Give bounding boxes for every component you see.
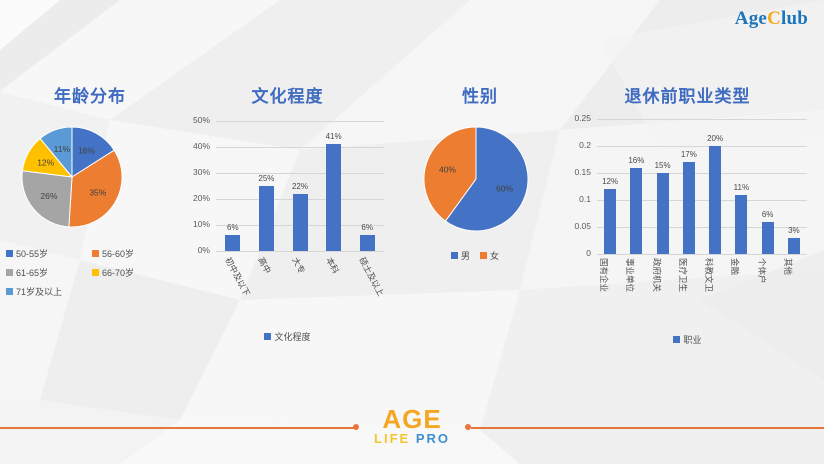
footer-dot-left bbox=[353, 424, 359, 430]
chart-title-occupation: 退休前职业类型 bbox=[555, 82, 820, 107]
y-axis-tick-label: 0.15 bbox=[555, 167, 591, 177]
bar bbox=[225, 235, 240, 251]
bar-data-label: 41% bbox=[320, 132, 348, 141]
legend-item: 职业 bbox=[673, 333, 701, 346]
bar bbox=[360, 235, 375, 251]
bar bbox=[709, 146, 721, 254]
y-axis-tick-label: 0.1 bbox=[555, 194, 591, 204]
legend-swatch-icon bbox=[480, 252, 487, 259]
footer-logo-sub: LIFE PRO bbox=[374, 432, 450, 446]
legend-label: 71岁及以上 bbox=[16, 285, 62, 298]
bar bbox=[683, 162, 695, 254]
x-axis-tick-label: 大专 bbox=[289, 255, 308, 276]
gridline bbox=[597, 254, 807, 255]
bar-data-label: 3% bbox=[780, 226, 808, 235]
legend-item: 71岁及以上 bbox=[6, 285, 92, 298]
legend-age: 50-55岁56-60岁61-65岁66-70岁71岁及以上 bbox=[0, 247, 180, 298]
x-axis-tick-label: 国有企业 bbox=[598, 258, 610, 292]
pie-data-label: 60% bbox=[496, 183, 513, 193]
footer-line-right bbox=[471, 427, 824, 429]
y-axis-tick-label: 30% bbox=[180, 167, 210, 177]
gridline bbox=[597, 146, 807, 147]
y-axis-tick-label: 10% bbox=[180, 219, 210, 229]
legend-item: 文化程度 bbox=[264, 330, 310, 343]
x-axis-tick-label: 科教文卫 bbox=[703, 258, 715, 292]
y-axis-tick-label: 0.05 bbox=[555, 221, 591, 231]
y-axis-tick-label: 0.25 bbox=[555, 113, 591, 123]
x-axis-tick-label: 政府机关 bbox=[651, 258, 663, 292]
bar bbox=[630, 168, 642, 254]
bar bbox=[657, 173, 669, 254]
chart-preretirement-occupation: 退休前职业类型 00.050.10.150.20.2512%国有企业16%事业单… bbox=[555, 82, 820, 346]
x-axis-tick-label: 事业单位 bbox=[624, 258, 636, 292]
legend-label: 文化程度 bbox=[274, 330, 310, 343]
legend-item: 61-65岁 bbox=[6, 266, 92, 279]
bar bbox=[293, 194, 308, 251]
bar bbox=[326, 144, 341, 251]
pie-chart-gender: 60%40% bbox=[400, 117, 560, 247]
bar-data-label: 15% bbox=[649, 161, 677, 170]
pie-data-label: 35% bbox=[89, 187, 106, 197]
bar bbox=[604, 189, 616, 254]
footer-logo-life: LIFE bbox=[374, 431, 410, 446]
legend-swatch-icon bbox=[6, 250, 13, 257]
gridline bbox=[216, 147, 384, 148]
legend-swatch-icon bbox=[451, 252, 458, 259]
bar-data-label: 12% bbox=[596, 177, 624, 186]
legend-education: 文化程度 bbox=[180, 330, 395, 343]
logo-text-age: Age bbox=[735, 8, 767, 29]
legend-label: 61-65岁 bbox=[16, 266, 48, 279]
pie-chart-age: 16%35%26%12%11% bbox=[0, 115, 180, 245]
y-axis-tick-label: 20% bbox=[180, 193, 210, 203]
bar bbox=[259, 186, 274, 251]
legend-label: 50-55岁 bbox=[16, 247, 48, 260]
bar bbox=[788, 238, 800, 254]
pie-data-label: 11% bbox=[54, 144, 71, 154]
bar-data-label: 16% bbox=[622, 156, 650, 165]
logo-text-c: C bbox=[767, 8, 781, 29]
chart-gender: 性别 60%40% 男女 bbox=[400, 82, 560, 262]
y-axis-tick-label: 0% bbox=[180, 245, 210, 255]
gridline bbox=[216, 173, 384, 174]
bar bbox=[735, 195, 747, 254]
bar-data-label: 22% bbox=[286, 182, 314, 191]
footer-logo-age: AGE bbox=[374, 406, 450, 432]
chart-education-level: 文化程度 0%10%20%30%40%50%6%初中及以下25%高中22%大专4… bbox=[180, 82, 395, 343]
legend-label: 66-70岁 bbox=[102, 266, 134, 279]
chart-title-age: 年龄分布 bbox=[0, 82, 180, 107]
gridline bbox=[597, 200, 807, 201]
legend-swatch-icon bbox=[6, 269, 13, 276]
legend-label: 职业 bbox=[683, 333, 701, 346]
pie-data-label: 40% bbox=[439, 165, 456, 175]
x-axis-tick-label: 金融 bbox=[729, 258, 741, 275]
legend-swatch-icon bbox=[6, 288, 13, 295]
chart-title-gender: 性别 bbox=[400, 82, 560, 107]
legend-item: 女 bbox=[480, 249, 499, 262]
x-axis-tick-label: 个体户 bbox=[756, 258, 768, 284]
legend-swatch-icon bbox=[92, 269, 99, 276]
legend-item: 66-70岁 bbox=[92, 266, 178, 279]
bar bbox=[762, 222, 774, 254]
bar-data-label: 25% bbox=[252, 174, 280, 183]
bar-data-label: 6% bbox=[219, 223, 247, 232]
bar-data-label: 6% bbox=[353, 223, 381, 232]
x-axis-tick-label: 医疗卫生 bbox=[677, 258, 689, 292]
y-axis-tick-label: 0 bbox=[555, 248, 591, 258]
ageclub-logo: AgeClub bbox=[735, 8, 808, 30]
x-axis-tick-label: 初中及以下 bbox=[222, 255, 253, 298]
gridline bbox=[216, 251, 384, 252]
legend-label: 女 bbox=[490, 249, 499, 262]
footer-line-left bbox=[0, 427, 355, 429]
x-axis-tick-label: 硕士及以上 bbox=[357, 255, 388, 298]
x-axis-tick-label: 其他 bbox=[782, 258, 794, 275]
legend-item: 56-60岁 bbox=[92, 247, 178, 260]
footer-strip: AGE LIFE PRO bbox=[0, 406, 824, 450]
y-axis-tick-label: 40% bbox=[180, 141, 210, 151]
legend-swatch-icon bbox=[264, 333, 271, 340]
gridline bbox=[597, 227, 807, 228]
footer-logo-pro: PRO bbox=[416, 431, 450, 446]
x-axis-tick-label: 本科 bbox=[323, 255, 342, 276]
chart-age-distribution: 年龄分布 16%35%26%12%11% 50-55岁56-60岁61-65岁6… bbox=[0, 82, 180, 298]
legend-label: 56-60岁 bbox=[102, 247, 134, 260]
legend-item: 男 bbox=[451, 249, 470, 262]
pie-data-label: 16% bbox=[78, 146, 95, 156]
legend-occupation: 职业 bbox=[555, 333, 820, 346]
pie-area-age: 16%35%26%12%11% bbox=[0, 115, 180, 245]
y-axis-tick-label: 50% bbox=[180, 115, 210, 125]
pie-area-gender: 60%40% bbox=[400, 117, 560, 247]
bar-data-label: 17% bbox=[675, 150, 703, 159]
bar-data-label: 6% bbox=[754, 210, 782, 219]
y-axis-tick-label: 0.2 bbox=[555, 140, 591, 150]
plot-area-education: 0%10%20%30%40%50%6%初中及以下25%高中22%大专41%本科6… bbox=[180, 117, 395, 292]
legend-swatch-icon bbox=[92, 250, 99, 257]
plot-area-occupation: 00.050.10.150.20.2512%国有企业16%事业单位15%政府机关… bbox=[555, 115, 820, 295]
agelifepro-logo: AGE LIFE PRO bbox=[374, 406, 450, 446]
gridline bbox=[597, 119, 807, 120]
pie-data-label: 26% bbox=[40, 191, 57, 201]
gridline bbox=[597, 173, 807, 174]
legend-item: 50-55岁 bbox=[6, 247, 92, 260]
gridline bbox=[216, 121, 384, 122]
x-axis-tick-label: 高中 bbox=[256, 255, 275, 276]
bar-data-label: 11% bbox=[727, 183, 755, 192]
logo-text-lub: lub bbox=[781, 8, 808, 29]
bar-data-label: 20% bbox=[701, 134, 729, 143]
pie-data-label: 12% bbox=[37, 158, 54, 168]
legend-swatch-icon bbox=[673, 336, 680, 343]
legend-label: 男 bbox=[461, 249, 470, 262]
legend-gender: 男女 bbox=[400, 249, 560, 262]
chart-title-education: 文化程度 bbox=[180, 82, 395, 107]
